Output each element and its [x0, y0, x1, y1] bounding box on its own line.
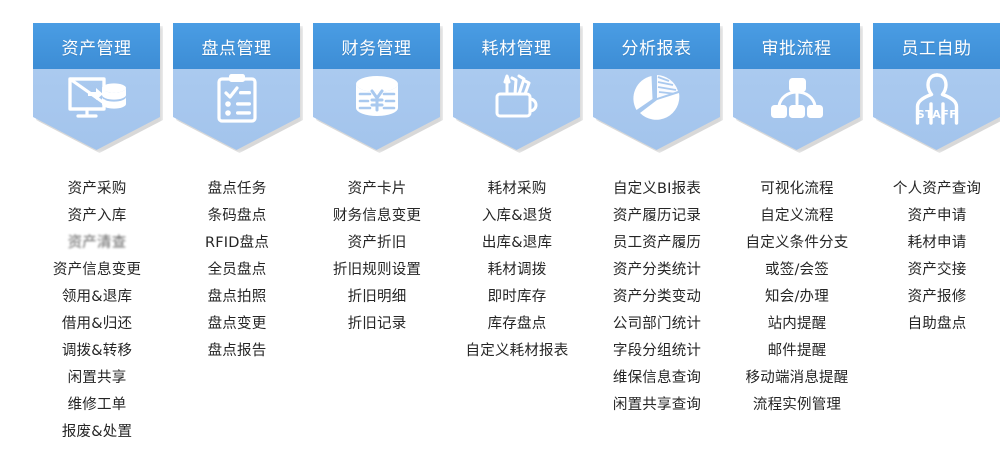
feature-overview-board: 资产管理 资产采购资产入库资产清查资产信息变更领用&退库借用&归还调拨&转移闲置…	[0, 0, 1000, 460]
list-item[interactable]: 自定义条件分支	[727, 230, 867, 257]
list-item[interactable]: 盘点变更	[167, 311, 307, 338]
feature-list: 资产卡片财务信息变更资产折旧折旧规则设置折旧明细折旧记录	[307, 176, 447, 338]
feature-column: 资产管理 资产采购资产入库资产清查资产信息变更领用&退库借用&归还调拨&转移闲置…	[27, 0, 167, 460]
list-item[interactable]: 资产折旧	[307, 230, 447, 257]
list-item[interactable]: 邮件提醒	[727, 338, 867, 365]
coin-stack-yen-icon	[313, 69, 440, 127]
list-item[interactable]: 折旧明细	[307, 284, 447, 311]
list-item[interactable]: 字段分组统计	[587, 338, 727, 365]
list-item[interactable]: 折旧记录	[307, 311, 447, 338]
list-item[interactable]: 出库&退库	[447, 230, 587, 257]
feature-list: 自定义BI报表资产履历记录员工资产履历资产分类统计资产分类变动公司部门统计字段分…	[587, 176, 727, 419]
category-title: 耗材管理	[482, 34, 552, 59]
list-item[interactable]: 闲置共享查询	[587, 392, 727, 419]
org-hierarchy-icon	[733, 69, 860, 127]
category-title: 分析报表	[622, 34, 692, 59]
list-item[interactable]: 财务信息变更	[307, 203, 447, 230]
list-item[interactable]: 库存盘点	[447, 311, 587, 338]
feature-list: 资产采购资产入库资产清查资产信息变更领用&退库借用&归还调拨&转移闲置共享维修工…	[27, 176, 167, 446]
staff-person-icon: STAFF	[873, 69, 1000, 127]
category-badge[interactable]: 盘点管理	[173, 23, 300, 150]
list-item[interactable]: 员工资产履历	[587, 230, 727, 257]
list-item[interactable]: 资产申请	[867, 203, 1000, 230]
list-item[interactable]: 维修工单	[27, 392, 167, 419]
feature-list: 可视化流程自定义流程自定义条件分支或签/会签知会/办理站内提醒邮件提醒移动端消息…	[727, 176, 867, 419]
list-item[interactable]: 借用&归还	[27, 311, 167, 338]
feature-list: 耗材采购入库&退货出库&退库耗材调拨即时库存库存盘点自定义耗材报表	[447, 176, 587, 365]
list-item[interactable]: 耗材申请	[867, 230, 1000, 257]
list-item[interactable]: 条码盘点	[167, 203, 307, 230]
feature-list: 盘点任务条码盘点RFID盘点全员盘点盘点拍照盘点变更盘点报告	[167, 176, 307, 365]
list-item[interactable]: 盘点拍照	[167, 284, 307, 311]
feature-column: 审批流程 可视化流程自定义流程自定义条件分支或签/会签知会/办理站内提醒邮件提醒…	[727, 0, 867, 460]
feature-column: 财务管理 资产卡片财务信息变更资产折旧折旧规则设置折旧明细折旧记录	[307, 0, 447, 460]
category-title: 审批流程	[762, 34, 832, 59]
category-badge[interactable]: 分析报表	[593, 23, 720, 150]
badge-header: 分析报表	[593, 23, 720, 69]
list-item[interactable]: 盘点任务	[167, 176, 307, 203]
list-item[interactable]: 耗材调拨	[447, 257, 587, 284]
svg-text:STAFF: STAFF	[916, 108, 957, 121]
list-item[interactable]: 报废&处置	[27, 419, 167, 446]
list-item[interactable]: RFID盘点	[167, 230, 307, 257]
list-item[interactable]: 资产清查	[27, 230, 167, 257]
pie-chart-icon	[593, 69, 720, 127]
badge-header: 耗材管理	[453, 23, 580, 69]
clipboard-checklist-icon	[173, 69, 300, 127]
category-badge[interactable]: 资产管理	[33, 23, 160, 150]
category-title: 员工自助	[902, 34, 972, 59]
badge-header: 审批流程	[733, 23, 860, 69]
list-item[interactable]: 折旧规则设置	[307, 257, 447, 284]
badge-header: 盘点管理	[173, 23, 300, 69]
list-item[interactable]: 自助盘点	[867, 311, 1000, 338]
list-item[interactable]: 或签/会签	[727, 257, 867, 284]
list-item[interactable]: 入库&退货	[447, 203, 587, 230]
feature-column: 员工自助 STAFF 个人资产查询资产申请耗材申请资产交接资产报修自助盘点	[867, 0, 1000, 460]
badge-header: 财务管理	[313, 23, 440, 69]
category-title: 财务管理	[342, 34, 412, 59]
category-title: 资产管理	[62, 34, 132, 59]
feature-column: 分析报表 自定义BI报表资产履历记录员工资产履历资产分类统计资产分类变动公司部门…	[587, 0, 727, 460]
list-item[interactable]: 闲置共享	[27, 365, 167, 392]
badge-header: 员工自助	[873, 23, 1000, 69]
list-item[interactable]: 知会/办理	[727, 284, 867, 311]
list-item[interactable]: 移动端消息提醒	[727, 365, 867, 392]
category-badge[interactable]: 财务管理	[313, 23, 440, 150]
list-item[interactable]: 资产采购	[27, 176, 167, 203]
feature-column: 耗材管理 耗材采购入库&退货出库&退库耗材调拨即时库存库存盘点自定义耗材报表	[447, 0, 587, 460]
badge-header: 资产管理	[33, 23, 160, 69]
list-item[interactable]: 资产分类变动	[587, 284, 727, 311]
list-item[interactable]: 资产入库	[27, 203, 167, 230]
list-item[interactable]: 调拨&转移	[27, 338, 167, 365]
list-item[interactable]: 即时库存	[447, 284, 587, 311]
list-item[interactable]: 维保信息查询	[587, 365, 727, 392]
list-item[interactable]: 站内提醒	[727, 311, 867, 338]
list-item[interactable]: 资产报修	[867, 284, 1000, 311]
computer-database-icon	[33, 69, 160, 127]
category-title: 盘点管理	[202, 34, 272, 59]
list-item[interactable]: 盘点报告	[167, 338, 307, 365]
pen-holder-icon	[453, 69, 580, 127]
category-badge[interactable]: 耗材管理	[453, 23, 580, 150]
list-item[interactable]: 自定义流程	[727, 203, 867, 230]
list-item[interactable]: 资产交接	[867, 257, 1000, 284]
list-item[interactable]: 自定义耗材报表	[447, 338, 587, 365]
list-item[interactable]: 可视化流程	[727, 176, 867, 203]
category-badge[interactable]: 审批流程	[733, 23, 860, 150]
list-item[interactable]: 资产卡片	[307, 176, 447, 203]
list-item[interactable]: 资产分类统计	[587, 257, 727, 284]
list-item[interactable]: 个人资产查询	[867, 176, 1000, 203]
list-item[interactable]: 自定义BI报表	[587, 176, 727, 203]
list-item[interactable]: 资产信息变更	[27, 257, 167, 284]
list-item[interactable]: 领用&退库	[27, 284, 167, 311]
list-item[interactable]: 耗材采购	[447, 176, 587, 203]
category-badge[interactable]: 员工自助 STAFF	[873, 23, 1000, 150]
list-item[interactable]: 全员盘点	[167, 257, 307, 284]
feature-list: 个人资产查询资产申请耗材申请资产交接资产报修自助盘点	[867, 176, 1000, 338]
feature-column: 盘点管理 盘点任务条码盘点RFID盘点全员盘点盘点拍照盘点变更盘点报告	[167, 0, 307, 460]
list-item[interactable]: 流程实例管理	[727, 392, 867, 419]
list-item[interactable]: 资产履历记录	[587, 203, 727, 230]
list-item[interactable]: 公司部门统计	[587, 311, 727, 338]
